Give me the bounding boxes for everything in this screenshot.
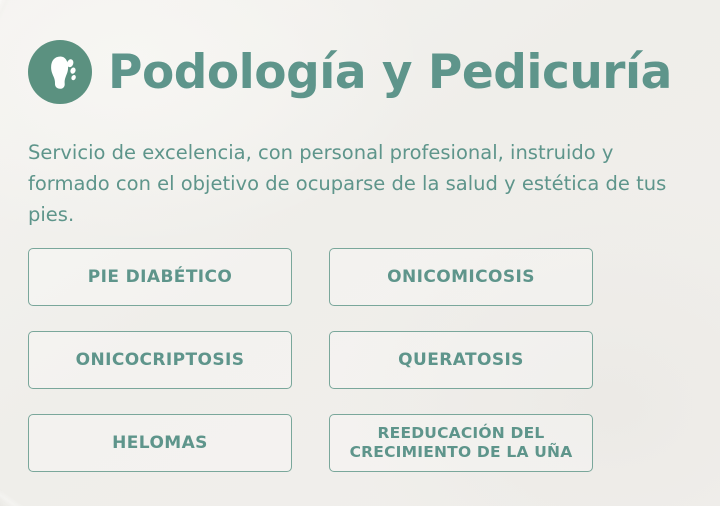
service-chip-onicocriptosis[interactable]: ONICOCRIPTOSIS (28, 331, 292, 389)
service-chip-reeducacion-crecimiento-una[interactable]: REEDUCACIÓN DEL CRECIMIENTO DE LA UÑA (329, 414, 593, 472)
service-card: Podología y Pedicuría Servicio de excele… (0, 0, 720, 506)
page-header: Podología y Pedicuría (28, 40, 672, 104)
footprint-icon (28, 40, 92, 104)
service-chip-onicomicosis[interactable]: ONICOMICOSIS (329, 248, 593, 306)
page-title: Podología y Pedicuría (108, 49, 672, 96)
intro-paragraph: Servicio de excelencia, con personal pro… (28, 137, 678, 230)
service-chip-pie-diabetico[interactable]: PIE DIABÉTICO (28, 248, 292, 306)
services-grid: PIE DIABÉTICO ONICOMICOSIS ONICOCRIPTOSI… (28, 248, 593, 472)
service-chip-queratosis[interactable]: QUERATOSIS (329, 331, 593, 389)
service-chip-helomas[interactable]: HELOMAS (28, 414, 292, 472)
